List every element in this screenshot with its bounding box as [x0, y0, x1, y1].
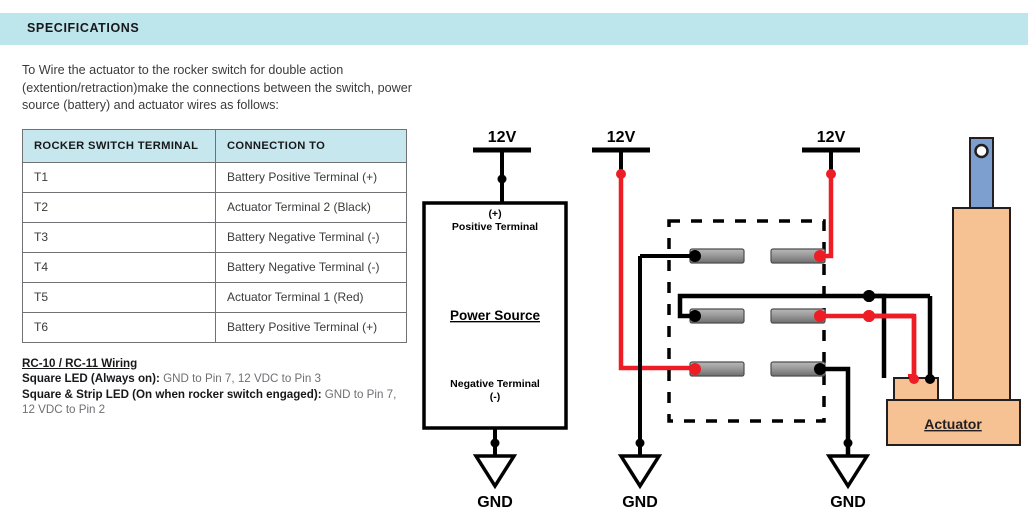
- table-row: T2 Actuator Terminal 2 (Black): [23, 192, 407, 222]
- cell-connection: Battery Positive Terminal (+): [216, 162, 407, 192]
- wiring-notes-block: RC-10 / RC-11 Wiring Square LED (Always …: [22, 356, 402, 418]
- power-source-title: Power Source: [450, 308, 541, 323]
- junction-dot: [636, 439, 645, 448]
- table-row: T6 Battery Positive Terminal (+): [23, 312, 407, 342]
- rocker-switch-terminal-table: ROCKER SWITCH TERMINAL CONNECTION TO T1 …: [22, 129, 407, 343]
- terminal-dot-t5: [689, 363, 701, 375]
- cell-terminal: T4: [23, 252, 216, 282]
- wire-positive-to-actuator: [869, 316, 914, 378]
- note-label-square-strip-led: Square & Strip LED (On when rocker switc…: [22, 388, 322, 401]
- note-label-square-led: Square LED (Always on):: [22, 372, 160, 385]
- column-header-terminal: ROCKER SWITCH TERMINAL: [23, 129, 216, 162]
- cell-connection: Battery Negative Terminal (-): [216, 252, 407, 282]
- cell-connection: Battery Positive Terminal (+): [216, 312, 407, 342]
- ground-symbol: [476, 456, 514, 486]
- table-row: T5 Actuator Terminal 1 (Red): [23, 282, 407, 312]
- wiring-notes-heading: RC-10 / RC-11 Wiring: [22, 356, 402, 372]
- ground-label-power-source: GND: [477, 494, 513, 511]
- cell-terminal: T1: [23, 162, 216, 192]
- cell-terminal: T5: [23, 282, 216, 312]
- ground-label-right: GND: [830, 494, 866, 511]
- junction-dot-red: [826, 169, 836, 179]
- terminal-dot-t1: [689, 250, 701, 262]
- column-header-connection: CONNECTION TO: [216, 129, 407, 162]
- junction-dot-red: [616, 169, 626, 179]
- supply-label-left: 12V: [607, 129, 636, 146]
- table-row: T1 Battery Positive Terminal (+): [23, 162, 407, 192]
- junction-dot: [844, 439, 853, 448]
- page-title: SPECIFICATIONS: [27, 21, 139, 35]
- cell-terminal: T2: [23, 192, 216, 222]
- table-row: T3 Battery Negative Terminal (-): [23, 222, 407, 252]
- actuator-rod-hole: [976, 145, 988, 157]
- ground-symbol: [621, 456, 659, 486]
- left-content-column: To Wire the actuator to the rocker switc…: [22, 62, 414, 418]
- junction-dot: [491, 439, 500, 448]
- wiring-note-line-1: Square LED (Always on): GND to Pin 7, 12…: [22, 372, 321, 385]
- table-header-row: ROCKER SWITCH TERMINAL CONNECTION TO: [23, 129, 407, 162]
- ground-symbol: [829, 456, 867, 486]
- junction-dot-red-tap: [863, 310, 875, 322]
- note-value-square-led: GND to Pin 7, 12 VDC to Pin 3: [160, 372, 321, 385]
- cell-terminal: T3: [23, 222, 216, 252]
- power-source-negative-sign: (-): [490, 391, 501, 403]
- ground-label-left: GND: [622, 494, 658, 511]
- specifications-header-band: SPECIFICATIONS: [0, 13, 1028, 45]
- junction-dot: [498, 175, 507, 184]
- cell-terminal: T6: [23, 312, 216, 342]
- junction-dot-black-tap: [863, 290, 875, 302]
- power-source-negative-label: Negative Terminal: [450, 378, 540, 390]
- supply-label-right: 12V: [817, 129, 846, 146]
- supply-label-power-source: 12V: [488, 129, 517, 146]
- wiring-diagram: 12V (+) Positive Terminal Power Source N…: [414, 118, 1028, 513]
- actuator-label: Actuator: [924, 416, 982, 432]
- power-source-positive-label: Positive Terminal: [452, 221, 538, 233]
- table-row: T4 Battery Negative Terminal (-): [23, 252, 407, 282]
- cell-connection: Battery Negative Terminal (-): [216, 222, 407, 252]
- power-source-positive-sign: (+): [488, 208, 501, 220]
- actuator-body: [953, 208, 1010, 403]
- wire-positive-left: [621, 174, 692, 368]
- wiring-note-line-2: Square & Strip LED (On when rocker switc…: [22, 388, 396, 417]
- cell-connection: Actuator Terminal 1 (Red): [216, 282, 407, 312]
- cell-connection: Actuator Terminal 2 (Black): [216, 192, 407, 222]
- intro-paragraph: To Wire the actuator to the rocker switc…: [22, 62, 412, 115]
